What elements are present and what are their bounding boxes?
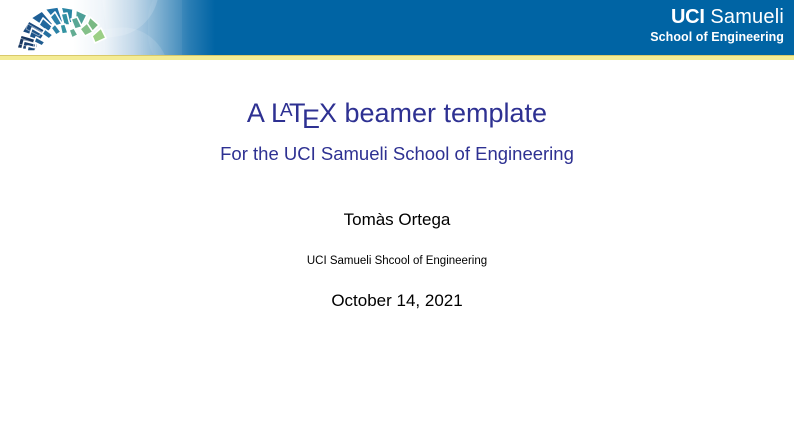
wordmark-school-text: School of Engineering xyxy=(650,31,784,44)
title-suffix-text: beamer template xyxy=(337,98,547,128)
wordmark-primary-line: UCI Samueli xyxy=(650,7,784,27)
institute-name: UCI Samueli Shcool of Engineering xyxy=(0,255,794,267)
latex-e: E xyxy=(302,104,320,134)
wordmark-samueli-text: Samueli xyxy=(705,6,784,28)
uci-fan-logo-icon xyxy=(14,5,114,51)
presentation-date: October 14, 2021 xyxy=(0,291,794,311)
presentation-subtitle: For the UCI Samueli School of Engineerin… xyxy=(0,143,794,165)
presentation-title: A LATEX beamer template xyxy=(0,98,794,136)
author-name: Tomàs Ortega xyxy=(0,210,794,230)
slide-header: UCI Samueli School of Engineering xyxy=(0,0,794,55)
latex-logo: LATEX xyxy=(271,98,337,128)
title-prefix-text: A xyxy=(247,98,271,128)
wordmark-uci-text: UCI xyxy=(671,6,705,28)
header-decoration-shape-c xyxy=(148,0,182,55)
uci-samueli-wordmark: UCI Samueli School of Engineering xyxy=(650,7,784,44)
title-page-body: A LATEX beamer template For the UCI Samu… xyxy=(0,60,794,447)
presentation-slide: UCI Samueli School of Engineering A LATE… xyxy=(0,0,794,447)
latex-x: X xyxy=(319,98,337,128)
